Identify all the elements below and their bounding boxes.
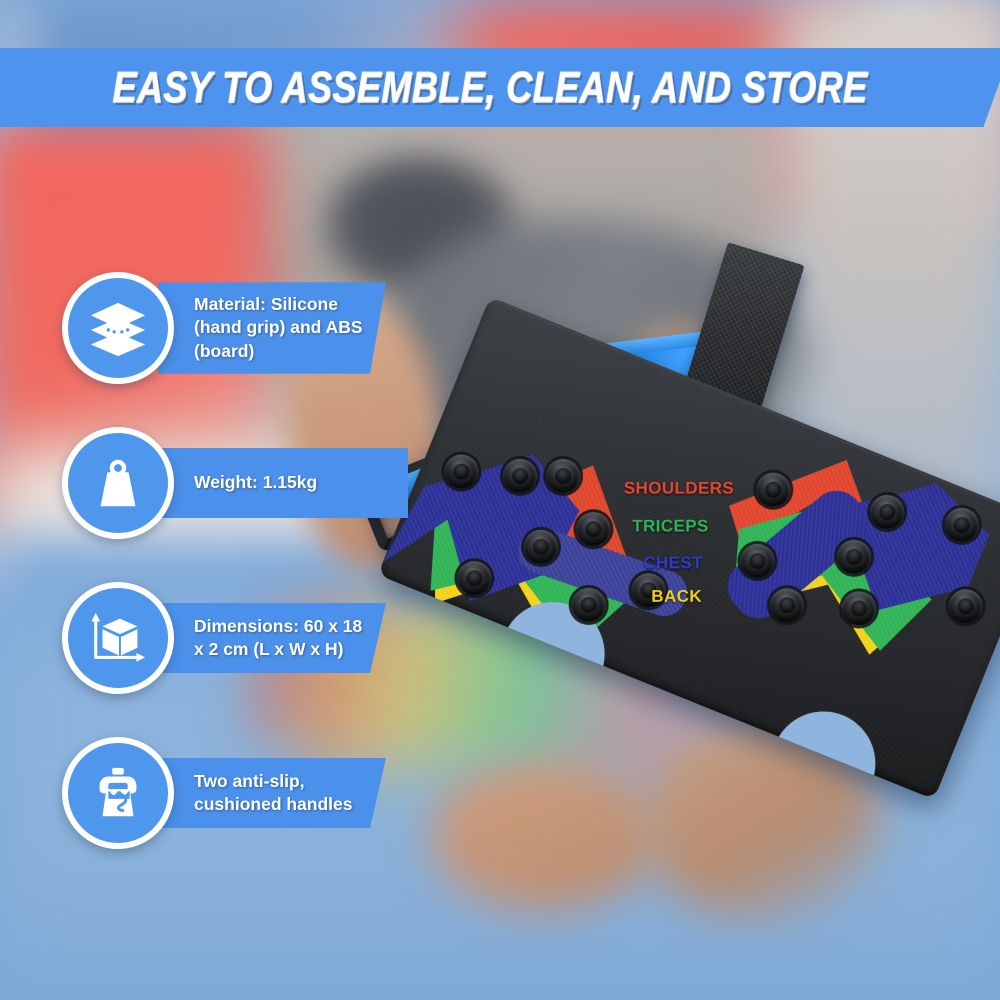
person-foot bbox=[430, 760, 660, 910]
feature-list: Material: Silicone (hand grip) and ABS (… bbox=[0, 0, 420, 1000]
feature-text-weight: Weight: 1.15kg bbox=[194, 471, 317, 494]
feature-label-weight: Weight: 1.15kg bbox=[158, 448, 408, 518]
dimensions-box-icon bbox=[62, 582, 174, 694]
feature-text-dimensions: Dimensions: 60 x 18 x 2 cm (L x W x H) bbox=[194, 615, 364, 661]
feature-text-material: Material: Silicone (hand grip) and ABS (… bbox=[194, 293, 364, 362]
layers-icon bbox=[62, 272, 174, 384]
weight-icon bbox=[62, 427, 174, 539]
feature-item-material: Material: Silicone (hand grip) and ABS (… bbox=[62, 272, 386, 384]
feature-item-weight: Weight: 1.15kg bbox=[62, 427, 408, 539]
feature-text-handles: Two anti-slip, cushioned handles bbox=[194, 770, 364, 816]
muscle-label-shoulders: SHOULDERS bbox=[624, 479, 734, 499]
feature-label-dimensions: Dimensions: 60 x 18 x 2 cm (L x W x H) bbox=[158, 603, 386, 673]
muscle-label-triceps: TRICEPS bbox=[632, 517, 708, 537]
handle-grip-icon bbox=[62, 737, 174, 849]
feature-label-material: Material: Silicone (hand grip) and ABS (… bbox=[158, 282, 386, 373]
feature-label-handles: Two anti-slip, cushioned handles bbox=[158, 758, 386, 828]
feature-item-handles: Two anti-slip, cushioned handles bbox=[62, 737, 386, 849]
feature-item-dimensions: Dimensions: 60 x 18 x 2 cm (L x W x H) bbox=[62, 582, 386, 694]
muscle-label-back: BACK bbox=[651, 587, 702, 607]
muscle-label-chest: CHEST bbox=[643, 553, 703, 573]
